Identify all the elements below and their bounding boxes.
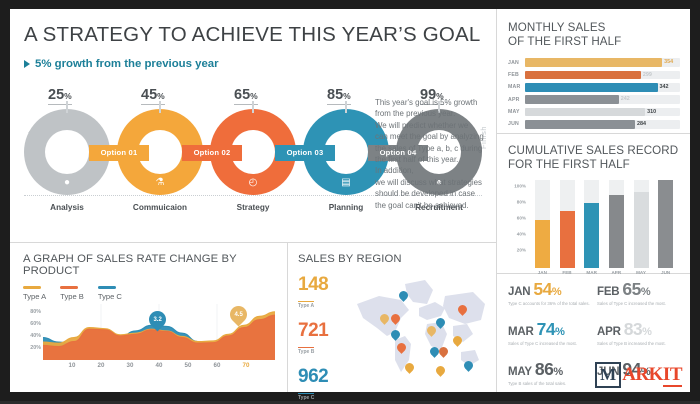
monthly-bar-label: APR: [508, 97, 525, 103]
area-legend-label: Type C: [98, 292, 122, 301]
percent-record-may: MAY86%Type B sales of the total sales.: [508, 359, 591, 397]
cumulative-column-fill: [535, 220, 550, 268]
percent-record-desc: Sales of Type C increased the most.: [597, 301, 680, 307]
percent-record-month: FEB: [597, 286, 619, 298]
monthly-sales-card: MONTHLY SALES OF THE FIRST HALF JAN354FE…: [496, 9, 690, 133]
monthly-bar-label: FEB: [508, 72, 525, 78]
process-percent-2: 45%: [141, 87, 165, 105]
cumulative-column-fill: [658, 180, 673, 268]
cumulative-column[interactable]: [658, 180, 673, 268]
paragraph-line-1: This year's goal is 5% growth: [375, 97, 495, 108]
monthly-bar-fill: [525, 58, 662, 67]
monthly-bar-track: 242: [525, 95, 680, 104]
monthly-bar-fill: [525, 95, 619, 104]
area-chart-plot: 20%40%60%80% 10203040506070 3.24.5: [23, 304, 275, 374]
percent-record-value: 74%: [537, 319, 565, 340]
monthly-bar-track: 354: [525, 58, 680, 67]
region-stat-label: Type B: [298, 347, 314, 355]
process-stage-4: Planning: [312, 203, 380, 212]
monthly-bar-value: 310: [647, 108, 656, 117]
monthly-bar-row: FEB299: [508, 70, 680, 79]
cumulative-y-tick: 60%: [517, 216, 526, 221]
monthly-bar-label: JAN: [508, 60, 525, 66]
cumulative-column-fill: [609, 195, 624, 268]
moneybag-icon: ●: [58, 173, 76, 191]
percent-record-value: 83%: [624, 319, 652, 340]
area-x-tick: 60: [214, 362, 221, 369]
percent-record-line: APR83%: [597, 319, 680, 340]
percent-record-line: MAR74%: [508, 319, 591, 340]
paragraph-line-4: can meet the goal by analyzing: [375, 131, 495, 142]
monthly-bar-row: JAN354: [508, 58, 680, 67]
monthly-sales-title: MONTHLY SALES OF THE FIRST HALF: [508, 21, 680, 49]
sales-rate-area-card: A GRAPH OF SALES RATE CHANGE BY PRODUCT …: [10, 242, 287, 392]
cumulative-plot-area: [530, 180, 678, 268]
area-x-tick: 40: [156, 362, 163, 369]
area-chart-title: A GRAPH OF SALES RATE CHANGE BY PRODUCT: [23, 253, 277, 277]
percent-record-month: MAY: [508, 366, 532, 378]
monthly-bar-row: MAR342: [508, 83, 680, 92]
area-x-tick: 10: [69, 362, 76, 369]
area-legend-item-2[interactable]: Type B: [60, 286, 84, 301]
monthly-bar-track: 310: [525, 108, 680, 117]
percent-record-feb: FEB65%Sales of Type C increased the most…: [597, 279, 680, 317]
cumulative-y-tick: 100%: [514, 184, 526, 189]
region-stat-label: Type A: [298, 301, 314, 309]
area-chart-y-axis: 20%40%60%80%: [23, 304, 41, 360]
cumulative-column[interactable]: [634, 180, 649, 268]
region-title: SALES BY REGION: [298, 253, 488, 265]
percent-record-value: 86%: [535, 359, 563, 380]
process-option-label-2: Option 02: [182, 145, 242, 161]
process-percent-3: 65%: [234, 87, 258, 105]
cumulative-column-fill: [584, 203, 599, 268]
paragraph-line-7: In addition,: [375, 165, 495, 176]
paragraph-line-5: the sales of Type a, b, c during: [375, 143, 495, 154]
percent-record-mar: MAR74%Sales of Type C increased the most…: [508, 319, 591, 357]
calendar-icon: ▤: [337, 173, 355, 191]
area-legend-item-3[interactable]: Type C: [98, 286, 122, 301]
monthly-bar-value: 342: [660, 83, 669, 92]
monthly-bar-value: 242: [621, 95, 630, 104]
paragraph-line-2: from the previous year.: [375, 108, 495, 119]
cumulative-column[interactable]: [609, 180, 624, 268]
cumulative-sales-title: CUMULATIVE SALES RECORD FOR THE FIRST HA…: [508, 144, 680, 172]
sales-by-region-card: SALES BY REGION 148Type A721Type B962Typ…: [287, 242, 496, 392]
monthly-bar-track: 299: [525, 71, 680, 80]
monthly-bar-fill: [525, 71, 641, 80]
percent-record-line: MAY86%: [508, 359, 591, 380]
area-legend-swatch: [23, 286, 41, 289]
area-legend-swatch: [98, 286, 116, 289]
monthly-bar-fill: [525, 108, 645, 117]
logo-m-letter: M: [595, 362, 621, 388]
percent-record-desc: Type B sales of the total sales.: [508, 381, 591, 387]
monthly-bar-fill: [525, 120, 635, 129]
monthly-bar-row: MAY310: [508, 108, 680, 117]
cumulative-y-tick: 20%: [517, 248, 526, 253]
area-legend-label: Type A: [23, 292, 46, 301]
process-percent-1: 25%: [48, 87, 72, 105]
monthly-bar-label: JUN: [508, 121, 525, 127]
percent-record-month: APR: [597, 326, 621, 338]
cumulative-column[interactable]: [535, 180, 550, 268]
flask-icon: ⚗: [151, 173, 169, 191]
cumulative-y-tick: 40%: [517, 232, 526, 237]
process-option-label-3: Option 03: [275, 145, 335, 161]
area-y-tick: 80%: [30, 309, 41, 315]
logo-wordmark: ARKIT: [622, 364, 682, 386]
percent-record-month: MAR: [508, 326, 534, 338]
monthly-bar-label: MAR: [508, 84, 525, 90]
cumulative-sales-card: CUMULATIVE SALES RECORD FOR THE FIRST HA…: [496, 133, 690, 270]
paragraph-line-9: should be developed in case: [375, 188, 495, 199]
percent-record-value: 54%: [533, 279, 561, 300]
monthly-bar-track: 284: [525, 120, 680, 129]
cumulative-y-tick: 80%: [517, 200, 526, 205]
process-stage-3: Strategy: [219, 203, 287, 212]
monthly-bar-fill: [525, 83, 658, 92]
process-option-label-1: Option 01: [89, 145, 149, 161]
process-percent-4: 85%: [327, 87, 351, 105]
area-legend-item-1[interactable]: Type A: [23, 286, 46, 301]
paragraph-line-3: We will predict whether we: [375, 120, 495, 131]
markit-logo: M ARKIT: [595, 362, 682, 388]
infographic-board: A STRATEGY TO ACHIEVE THIS YEAR’S GOAL 5…: [10, 9, 690, 392]
cumulative-column-chart: 20%40%60%80%100% JANFEBMARAPRMAYJUN: [508, 180, 680, 268]
area-x-tick: 50: [185, 362, 192, 369]
area-y-tick: 40%: [30, 333, 41, 339]
paragraph-line-8: we will discuss what strategies: [375, 177, 495, 188]
percent-record-line: FEB65%: [597, 279, 680, 300]
cumulative-column[interactable]: [584, 180, 599, 268]
area-legend-label: Type B: [60, 292, 84, 301]
monthly-sales-bar-chart: JAN354FEB299MAR342APR242MAY310JUN284: [508, 58, 680, 129]
paragraph-line-10: the goal can't be achieved.: [375, 200, 495, 211]
monthly-bar-label: MAY: [508, 109, 525, 115]
area-x-tick: 30: [127, 362, 134, 369]
cumulative-column[interactable]: [560, 180, 575, 268]
area-chart-legend: Type AType BType C: [23, 286, 277, 301]
percent-record-desc: Sales of Type B increased the most.: [597, 341, 680, 347]
area-x-tick: 70: [243, 362, 250, 369]
area-y-tick: 20%: [30, 345, 41, 351]
area-legend-swatch: [60, 286, 78, 289]
monthly-bar-track: 342: [525, 83, 680, 92]
cumulative-column-fill: [634, 192, 649, 268]
percent-record-desc: Sales of Type C increased the most.: [508, 341, 591, 347]
triangle-bullet-icon: [24, 60, 30, 68]
monthly-bar-value: 354: [664, 58, 673, 67]
process-stage-1: Analysis: [33, 203, 101, 212]
area-y-tick: 60%: [30, 321, 41, 327]
percent-record-desc: Type C accounts for 36% of the total sal…: [508, 301, 591, 307]
percent-record-line: JAN54%: [508, 279, 591, 300]
region-stat-label: Type C: [298, 393, 314, 401]
world-map: [349, 274, 489, 378]
clock-icon: ◴: [244, 173, 262, 191]
goal-paragraph: This year's goal is 5% growthfrom the pr…: [375, 97, 495, 211]
area-x-tick: 20: [98, 362, 105, 369]
hero-subtitle-row: 5% growth from the previous year: [24, 58, 482, 70]
paragraph-line-6: the first half of this year.: [375, 154, 495, 165]
monthly-bar-value: 299: [643, 71, 652, 80]
monthly-bar-value: 284: [637, 120, 646, 129]
percent-record-month: JAN: [508, 286, 530, 298]
outer-frame: A STRATEGY TO ACHIEVE THIS YEAR’S GOAL 5…: [0, 0, 700, 401]
page-title: A STRATEGY TO ACHIEVE THIS YEAR’S GOAL: [24, 23, 482, 47]
percent-record-apr: APR83%Sales of Type B increased the most…: [597, 319, 680, 357]
process-stage-2: Commuicaion: [126, 203, 194, 212]
area-chart-x-axis: 10203040506070: [43, 362, 275, 372]
percent-record-jan: JAN54%Type C accounts for 36% of the tot…: [508, 279, 591, 317]
percent-record-value: 65%: [622, 279, 650, 300]
monthly-bar-row: JUN284: [508, 120, 680, 129]
hero-subtitle: 5% growth from the previous year: [35, 58, 219, 70]
cumulative-y-axis: 20%40%60%80%100%: [508, 180, 528, 268]
cumulative-column-fill: [560, 211, 575, 268]
monthly-bar-row: APR242: [508, 95, 680, 104]
